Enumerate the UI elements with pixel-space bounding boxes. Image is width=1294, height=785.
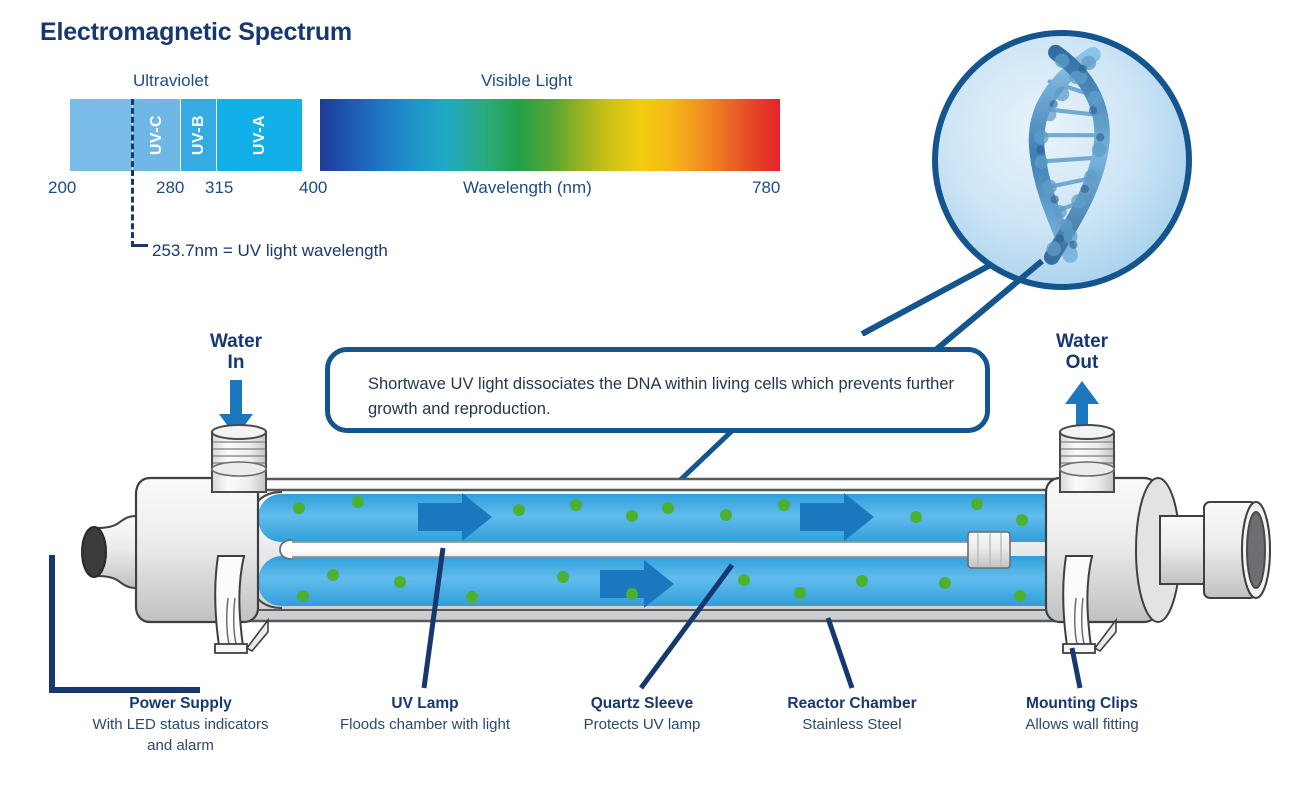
water-in-line1: Water	[190, 331, 282, 352]
dna-helix-icon	[938, 36, 1186, 284]
spectrum-tick-280: 280	[156, 178, 184, 198]
part-leader-lines	[0, 400, 1294, 720]
diagram-root: Electromagnetic Spectrum Ultraviolet Vis…	[0, 0, 1294, 785]
part-desc-power-supply: With LED status indicators and alarm	[88, 715, 273, 756]
part-desc-uv-lamp: Floods chamber with light	[330, 715, 520, 736]
part-label-power-supply: Power Supply With LED status indicators …	[88, 694, 273, 756]
callout-tail-to-dna	[930, 255, 1050, 355]
spectrum-tick-400: 400	[299, 178, 327, 198]
part-desc-mounting-clips: Allows wall fitting	[992, 715, 1172, 736]
part-desc-reactor-chamber: Stainless Steel	[762, 715, 942, 736]
part-title-mounting-clips: Mounting Clips	[992, 694, 1172, 715]
spectrum-band-visible-light	[320, 99, 780, 171]
part-label-mounting-clips: Mounting Clips Allows wall fitting	[992, 694, 1172, 736]
water-out-line1: Water	[1036, 331, 1128, 352]
spectrum-band-uvc-label: UV-C	[148, 115, 166, 155]
water-out-label: Water Out	[1036, 331, 1128, 374]
uvc-marker-dashed-line	[131, 99, 134, 247]
water-in-label: Water In	[190, 331, 282, 374]
part-title-quartz-sleeve: Quartz Sleeve	[552, 694, 732, 715]
page-title: Electromagnetic Spectrum	[40, 18, 352, 47]
dna-magnifier-circle	[932, 30, 1192, 290]
spectrum-tick-315: 315	[205, 178, 233, 198]
uvc-marker-foot	[131, 244, 148, 247]
part-label-quartz-sleeve: Quartz Sleeve Protects UV lamp	[552, 694, 732, 736]
uvc-wavelength-note: 253.7nm = UV light wavelength	[152, 241, 388, 261]
water-out-line2: Out	[1036, 352, 1128, 373]
part-title-reactor-chamber: Reactor Chamber	[762, 694, 942, 715]
spectrum-band-uvb: UV-B	[181, 99, 216, 171]
spectrum-tick-780: 780	[752, 178, 780, 198]
part-title-uv-lamp: UV Lamp	[330, 694, 520, 715]
part-label-uv-lamp: UV Lamp Floods chamber with light	[330, 694, 520, 736]
ultraviolet-group-label: Ultraviolet	[133, 71, 323, 91]
spectrum-band-uva-label: UV-A	[251, 115, 269, 155]
spectrum-band-uvc: UV-C	[133, 99, 180, 171]
water-in-line2: In	[190, 352, 282, 373]
part-label-reactor-chamber: Reactor Chamber Stainless Steel	[762, 694, 942, 736]
spectrum-axis-label: Wavelength (nm)	[463, 178, 592, 198]
visible-light-group-label: Visible Light	[481, 71, 572, 91]
part-title-power-supply: Power Supply	[88, 694, 273, 715]
spectrum-band-uvb-label: UV-B	[190, 115, 208, 155]
spectrum-band-uva: UV-A	[217, 99, 302, 171]
part-desc-quartz-sleeve: Protects UV lamp	[552, 715, 732, 736]
spectrum-tick-200: 200	[48, 178, 76, 198]
spectrum-band-uv-vacuum	[70, 99, 132, 171]
